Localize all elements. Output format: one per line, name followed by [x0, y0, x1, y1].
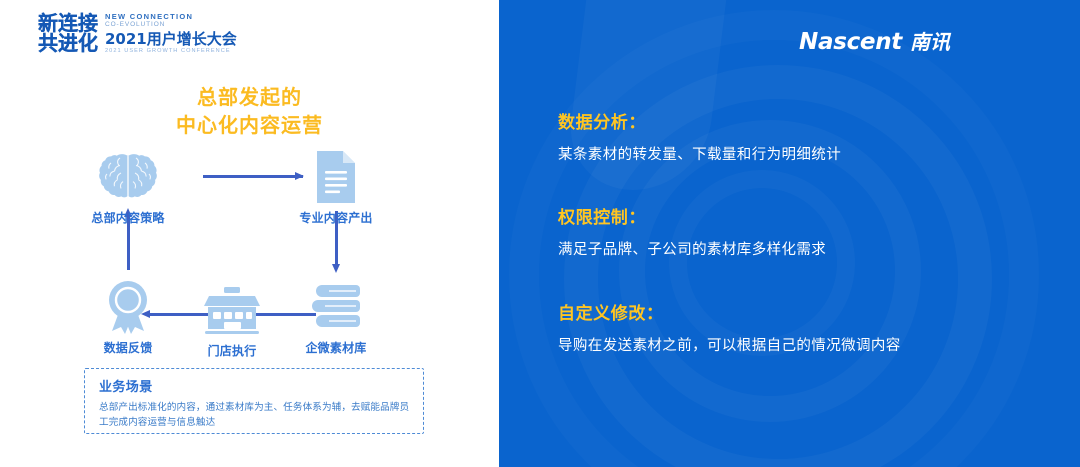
brain-icon [80, 143, 176, 205]
flow-node-label: 专业内容产出 [288, 209, 384, 226]
feature-body: 满足子品牌、子公司的素材库多样化需求 [558, 240, 1058, 260]
business-scenario-box: 业务场景 总部产出标准化的内容，通过素材库为主、任务体系为辅，去赋能品牌员工完成… [84, 368, 424, 434]
award-ribbon-icon [80, 273, 176, 335]
feature-bullet-list: 数据分析： 某条素材的转发量、下载量和行为明细统计 权限控制： 满足子品牌、子公… [558, 108, 1058, 356]
feature-body: 导购在发送素材之前，可以根据自己的情况微调内容 [558, 336, 1058, 356]
flow-node-output: 专业内容产出 [288, 143, 384, 226]
left-panel: 新连接 共进化 NEW CONNECTION CO-EVOLUTION 2021… [0, 0, 499, 467]
business-scenario-body: 总部产出标准化的内容，通过素材库为主、任务体系为辅，去赋能品牌员工完成内容运营与… [99, 401, 411, 431]
page-title: 总部发起的 中心化内容运营 [0, 83, 499, 140]
flow-node-label: 数据反馈 [80, 339, 176, 356]
flow-node-strategy: 总部内容策略 [80, 143, 176, 226]
feature-heading: 自定义修改： [558, 299, 1058, 324]
page-title-line2: 中心化内容运营 [0, 111, 499, 139]
flow-node-feedback: 数据反馈 [80, 273, 176, 356]
content-operation-flow-diagram: 总部内容策略 专业内容产出 [88, 143, 428, 358]
nascent-brand-logo: Nascent 南讯 [799, 26, 950, 55]
conference-logo-en-line1: NEW CONNECTION [105, 13, 237, 21]
conference-logo-cn-headline: 2021用户增长大会 [105, 31, 237, 48]
feature-body: 某条素材的转发量、下载量和行为明细统计 [558, 145, 1058, 165]
feature-item-data-analysis: 数据分析： 某条素材的转发量、下载量和行为明细统计 [558, 108, 1058, 165]
conference-logo-en-line2: CO-EVOLUTION [105, 21, 237, 28]
slide-root: 新连接 共进化 NEW CONNECTION CO-EVOLUTION 2021… [0, 0, 1080, 467]
conference-logo-line2: 共进化 [38, 33, 98, 54]
feature-heading: 权限控制： [558, 203, 1058, 228]
conference-logo-en-line3: 2021 USER GROWTH CONFERENCE [105, 48, 237, 54]
conference-logo-chinese: 新连接 共进化 [38, 13, 98, 55]
business-scenario-title: 业务场景 [99, 376, 411, 395]
flow-node-library: 企微素材库 [288, 273, 384, 356]
nascent-logo-en: Nascent [799, 29, 902, 55]
conference-logo-english: NEW CONNECTION CO-EVOLUTION 2021用户增长大会 2… [105, 12, 237, 55]
flow-node-label: 门店执行 [184, 342, 280, 359]
flow-node-store: 门店执行 [184, 276, 280, 359]
feature-heading: 数据分析： [558, 108, 1058, 133]
right-panel: Nascent 南讯 数据分析： 某条素材的转发量、下载量和行为明细统计 权限控… [499, 0, 1080, 467]
conference-logo: 新连接 共进化 NEW CONNECTION CO-EVOLUTION 2021… [38, 12, 237, 55]
feature-item-custom-edit: 自定义修改： 导购在发送素材之前，可以根据自己的情况微调内容 [558, 299, 1058, 356]
flow-node-label: 企微素材库 [288, 339, 384, 356]
flow-node-label: 总部内容策略 [80, 209, 176, 226]
document-icon [288, 143, 384, 205]
nascent-logo-cn: 南讯 [910, 26, 950, 55]
storefront-icon [184, 276, 280, 338]
feature-item-permission-control: 权限控制： 满足子品牌、子公司的素材库多样化需求 [558, 203, 1058, 260]
books-icon [288, 273, 384, 335]
page-title-line1: 总部发起的 [0, 83, 499, 111]
